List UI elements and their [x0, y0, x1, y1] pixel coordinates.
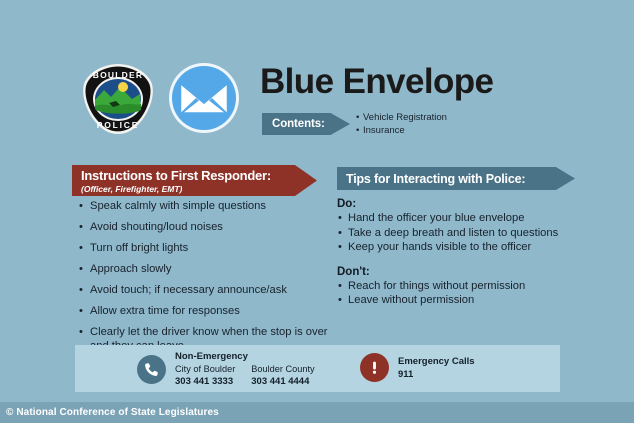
infographic-canvas: BOULDER POLICE Blue Envelope Contents: [0, 0, 634, 423]
list-item: Insurance [356, 124, 447, 137]
svg-text:BOULDER: BOULDER [93, 70, 143, 80]
contents-list: Vehicle Registration Insurance [356, 111, 447, 137]
non-emergency-title: Non-Emergency [175, 351, 315, 363]
group-heading: Do: [337, 198, 597, 210]
instructions-banner-subtitle: (Officer, Firefighter, EMT) [81, 184, 317, 194]
contents-banner: Contents: [262, 113, 350, 135]
tips-dont-group: Don't: Reach for things without permissi… [337, 266, 597, 308]
list-item: Hand the officer your blue envelope [337, 211, 597, 226]
contact-number: 303 441 4444 [251, 376, 314, 388]
contact-number: 303 441 3333 [175, 376, 235, 388]
list-item: Take a deep breath and listen to questio… [337, 226, 597, 241]
emergency-block: Emergency Calls 911 [360, 353, 475, 382]
emergency-number: 911 [398, 369, 475, 380]
non-emergency-block: Non-Emergency City of Boulder 303 441 33… [137, 351, 315, 388]
header-section: BOULDER POLICE Blue Envelope Contents: [0, 0, 634, 150]
instructions-banner: Instructions to First Responder: (Office… [72, 165, 317, 196]
contact-entry-county: Boulder County 303 441 4444 [251, 364, 314, 388]
group-heading: Don't: [337, 266, 597, 278]
instructions-list: Speak calmly with simple questions Avoid… [78, 199, 328, 353]
footer-credit: © National Conference of State Legislatu… [0, 407, 219, 418]
list-item: Vehicle Registration [356, 111, 447, 124]
list-item: Reach for things without permission [337, 279, 597, 294]
contact-name: City of Boulder [175, 364, 235, 376]
envelope-icon [168, 62, 240, 134]
footer-bar: © National Conference of State Legislatu… [0, 402, 634, 423]
exclamation-icon [360, 353, 389, 382]
tips-banner-title: Tips for Interacting with Police: [346, 172, 575, 186]
list-item: Allow extra time for responses [78, 304, 328, 318]
tips-do-group: Do: Hand the officer your blue envelope … [337, 198, 597, 255]
contents-label: Contents: [262, 118, 325, 130]
list-item: Approach slowly [78, 262, 328, 276]
non-emergency-text: Non-Emergency City of Boulder 303 441 33… [175, 351, 315, 388]
list-item: Keep your hands visible to the officer [337, 240, 597, 255]
boulder-police-badge-icon: BOULDER POLICE [80, 62, 156, 136]
tips-content: Do: Hand the officer your blue envelope … [337, 198, 597, 308]
list-item: Speak calmly with simple questions [78, 199, 328, 213]
page-title: Blue Envelope [260, 64, 493, 99]
svg-text:POLICE: POLICE [97, 120, 139, 130]
contact-name: Boulder County [251, 364, 314, 376]
list-item: Turn off bright lights [78, 241, 328, 255]
emergency-title: Emergency Calls [398, 356, 475, 368]
list-item: Avoid shouting/loud noises [78, 220, 328, 234]
emergency-text: Emergency Calls 911 [398, 356, 475, 380]
tips-banner: Tips for Interacting with Police: [337, 167, 575, 190]
contact-entry-city: City of Boulder 303 441 3333 [175, 364, 235, 388]
contact-panel: Non-Emergency City of Boulder 303 441 33… [75, 345, 560, 392]
phone-icon [137, 355, 166, 384]
list-item: Leave without permission [337, 293, 597, 308]
instructions-banner-title: Instructions to First Responder: [81, 168, 317, 183]
list-item: Avoid touch; if necessary announce/ask [78, 283, 328, 297]
